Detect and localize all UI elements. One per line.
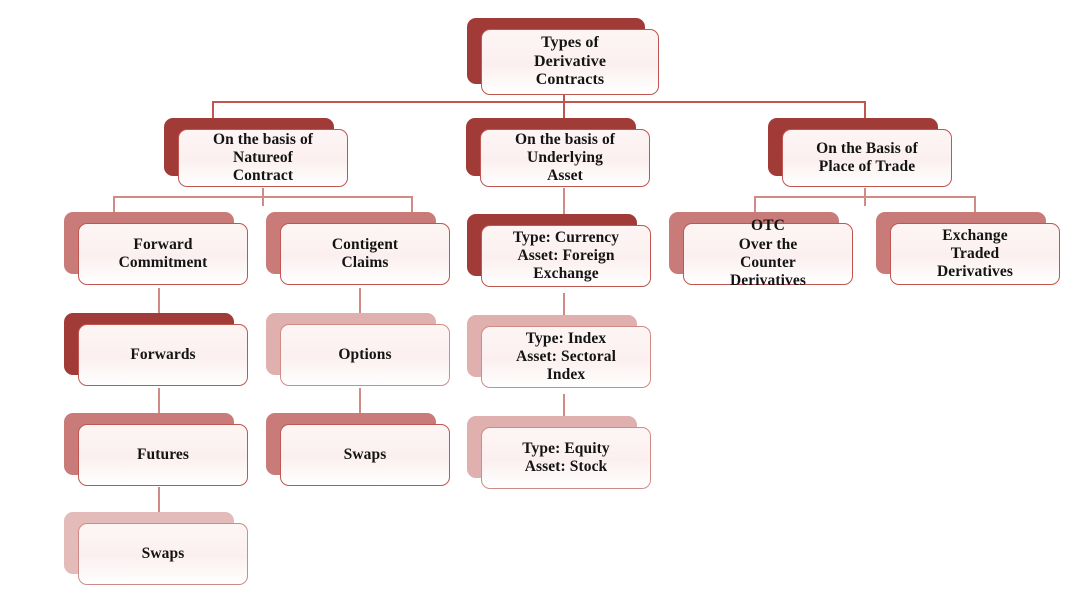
node-label: Swaps <box>142 545 185 563</box>
node-box: On the basis of Natureof Contract <box>178 129 348 187</box>
node-box: Type: Equity Asset: Stock <box>481 427 651 489</box>
connector-level1-bus <box>212 101 865 103</box>
node-futures[interactable]: Futures <box>64 413 234 475</box>
node-box: Futures <box>78 424 248 486</box>
node-label: On the basis of Natureof Contract <box>213 131 313 186</box>
node-label: Forwards <box>130 346 195 364</box>
node-label: Exchange Traded Derivatives <box>937 227 1013 282</box>
node-label: Types of Derivative Contracts <box>534 34 606 91</box>
node-swaps-forward[interactable]: Swaps <box>64 512 234 574</box>
node-box: Swaps <box>78 523 248 585</box>
node-forwards[interactable]: Forwards <box>64 313 234 375</box>
node-box: On the Basis of Place of Trade <box>782 129 952 187</box>
node-label: Type: Currency Asset: Foreign Exchange <box>513 229 619 284</box>
node-box: Type: Currency Asset: Foreign Exchange <box>481 225 651 287</box>
node-box: Forwards <box>78 324 248 386</box>
node-box: Type: Index Asset: Sectoral Index <box>481 326 651 388</box>
node-box: Types of Derivative Contracts <box>481 29 659 95</box>
node-swaps-contingent[interactable]: Swaps <box>266 413 436 475</box>
node-options[interactable]: Options <box>266 313 436 375</box>
node-label: Options <box>338 346 391 364</box>
node-label: Type: Index Asset: Sectoral Index <box>516 330 616 385</box>
diagram-canvas: Types of Derivative Contracts On the bas… <box>0 0 1068 599</box>
node-exchange-traded[interactable]: Exchange Traded Derivatives <box>876 212 1046 274</box>
node-box: Exchange Traded Derivatives <box>890 223 1060 285</box>
node-box: Contigent Claims <box>280 223 450 285</box>
node-box: On the basis of Underlying Asset <box>480 129 650 187</box>
node-contigent-claims[interactable]: Contigent Claims <box>266 212 436 274</box>
node-type-currency[interactable]: Type: Currency Asset: Foreign Exchange <box>467 214 637 276</box>
node-label: OTC Over the Counter Derivatives <box>730 217 806 290</box>
node-box: OTC Over the Counter Derivatives <box>683 223 853 285</box>
connector-place-bus <box>754 196 976 198</box>
node-type-equity[interactable]: Type: Equity Asset: Stock <box>467 416 637 478</box>
node-branch-place[interactable]: On the Basis of Place of Trade <box>768 118 938 176</box>
node-box: Options <box>280 324 450 386</box>
node-label: Forward Commitment <box>119 236 208 273</box>
node-label: Contigent Claims <box>332 236 398 273</box>
node-box: Forward Commitment <box>78 223 248 285</box>
connector-nature-bus <box>113 196 413 198</box>
node-box: Swaps <box>280 424 450 486</box>
node-type-index[interactable]: Type: Index Asset: Sectoral Index <box>467 315 637 377</box>
node-label: Swaps <box>344 446 387 464</box>
node-branch-underlying[interactable]: On the basis of Underlying Asset <box>466 118 636 176</box>
node-label: Type: Equity Asset: Stock <box>522 440 609 477</box>
node-label: On the basis of Underlying Asset <box>515 131 615 186</box>
node-root[interactable]: Types of Derivative Contracts <box>467 18 645 84</box>
node-branch-nature[interactable]: On the basis of Natureof Contract <box>164 118 334 176</box>
node-label: On the Basis of Place of Trade <box>816 140 918 177</box>
node-forward-commitment[interactable]: Forward Commitment <box>64 212 234 274</box>
node-label: Futures <box>137 446 189 464</box>
node-otc[interactable]: OTC Over the Counter Derivatives <box>669 212 839 274</box>
